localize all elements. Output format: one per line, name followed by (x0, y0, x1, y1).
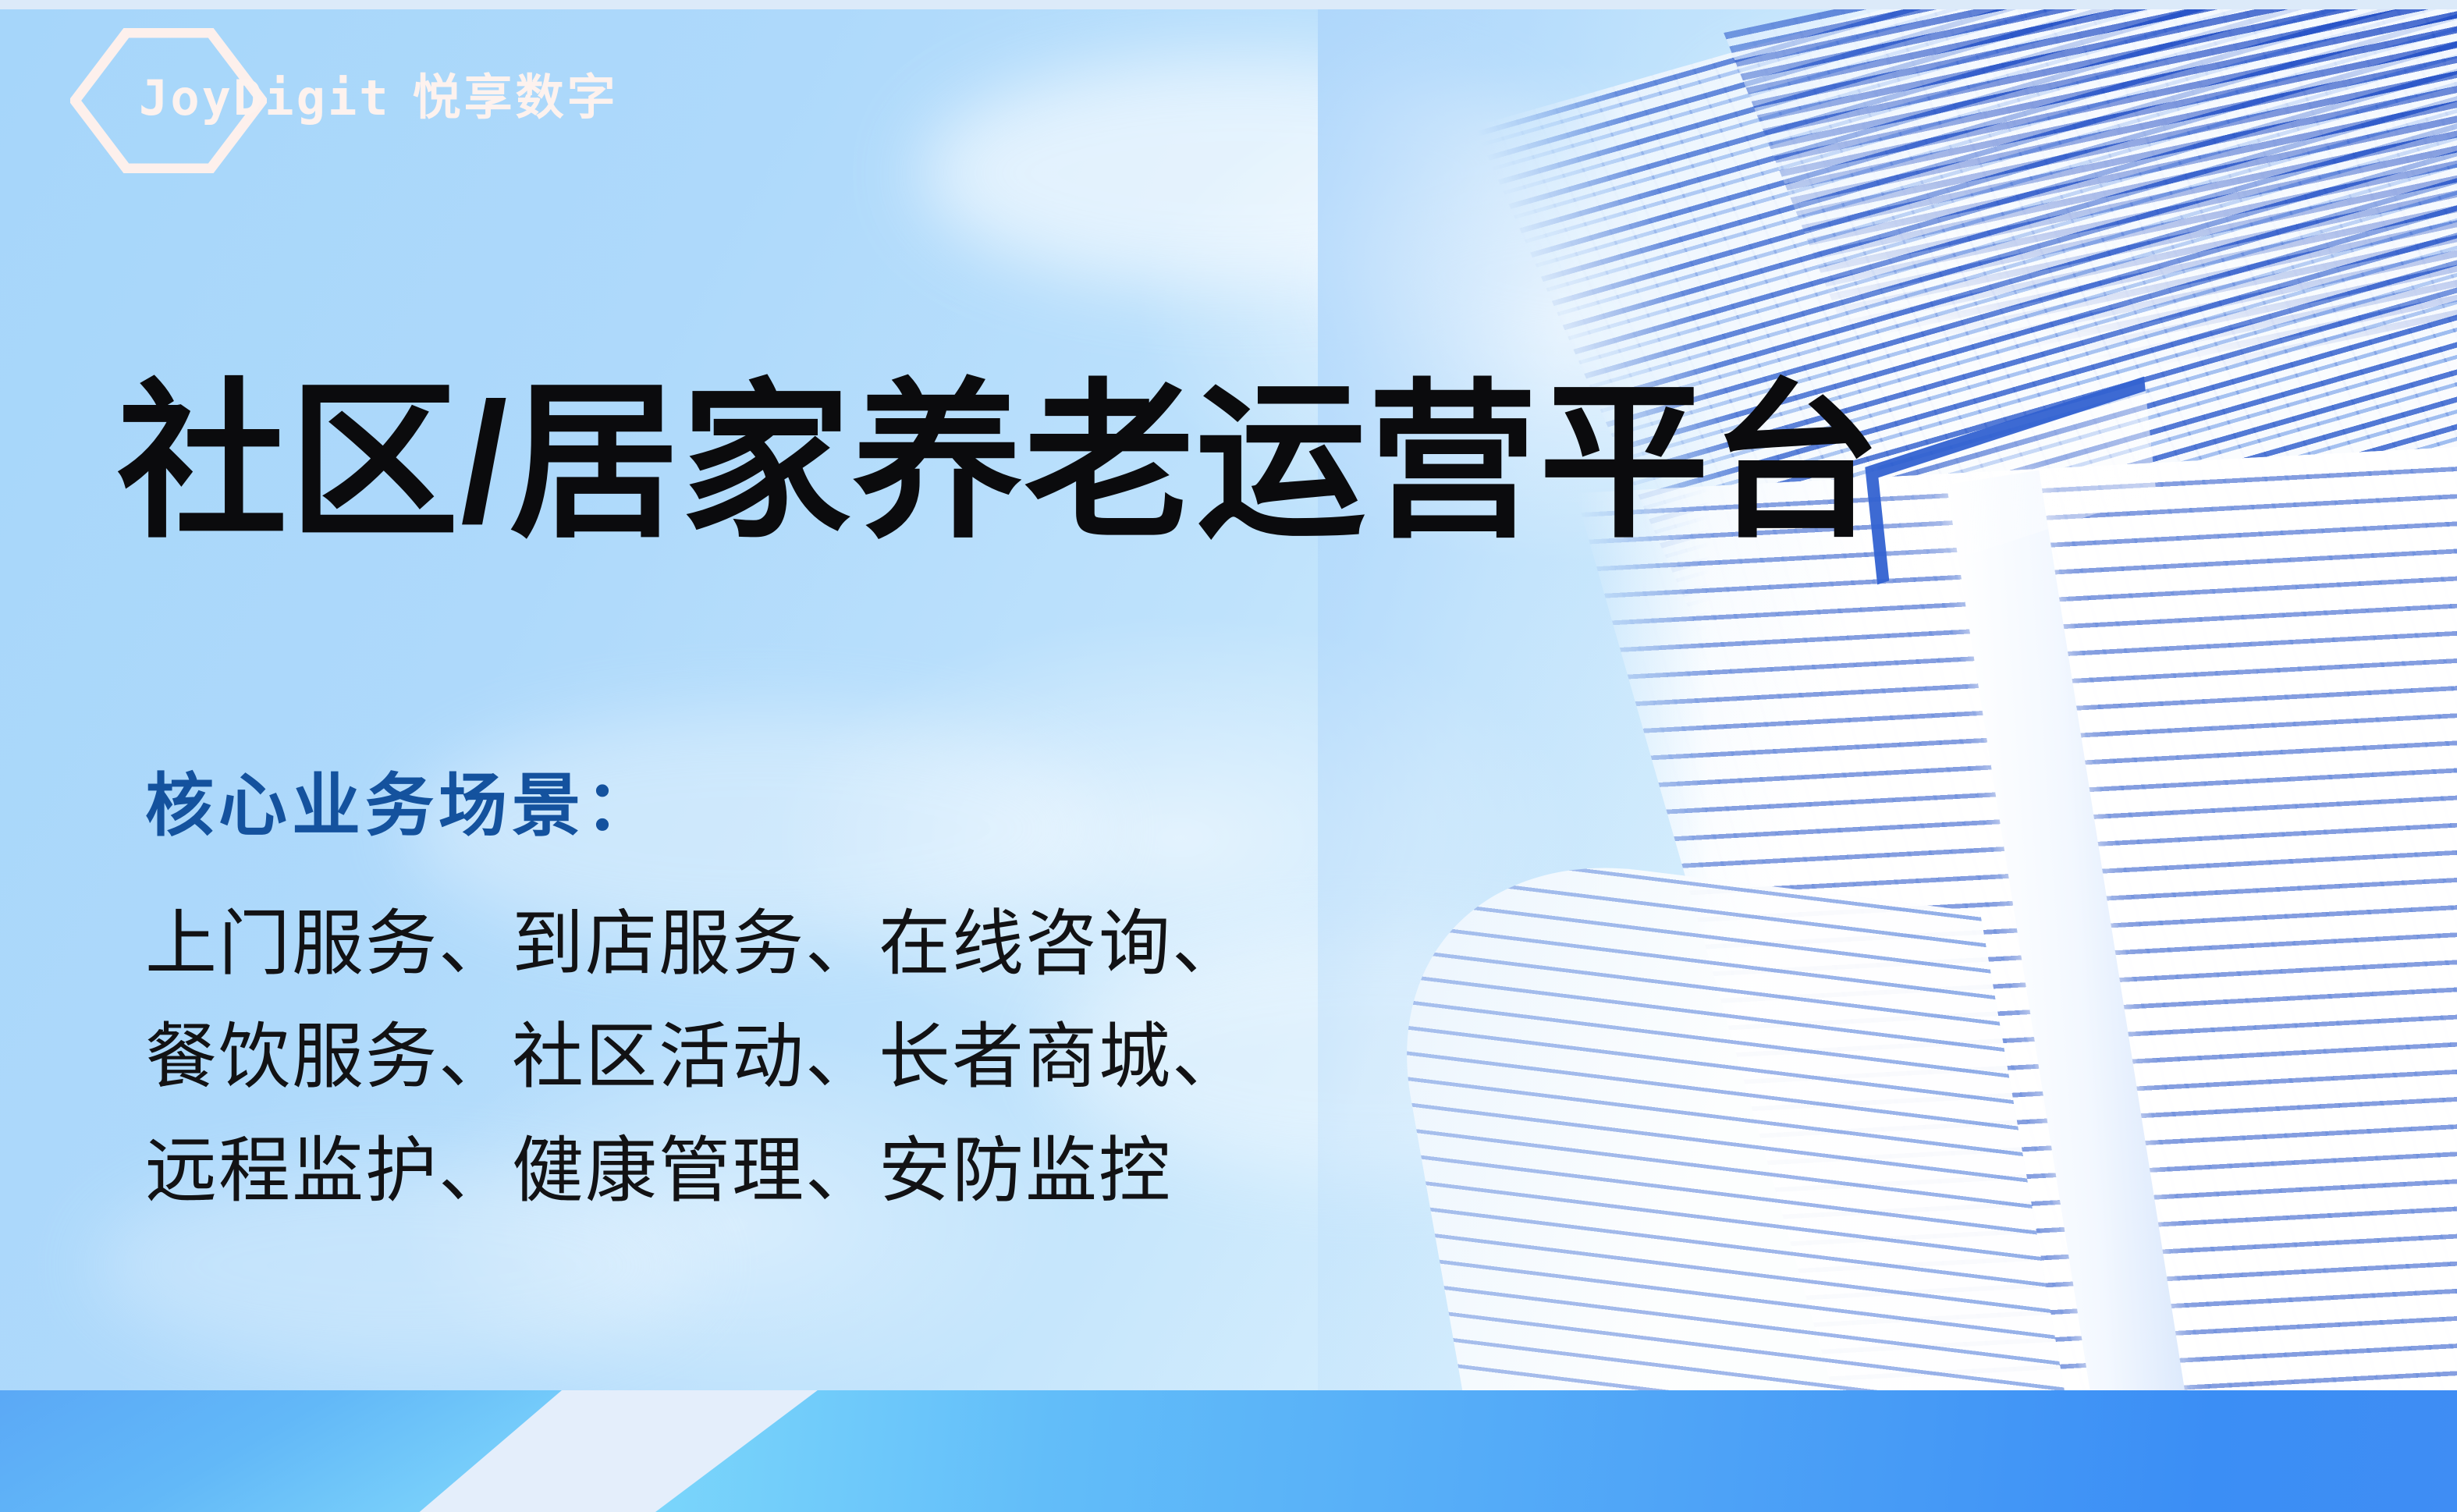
core-scenarios-block: 核心业务场景： 上门服务、到店服务、在线咨询、 餐饮服务、社区活动、长者商城、 … (145, 768, 1245, 1228)
top-accent-strip (0, 0, 2457, 9)
logo-chinese-name: 悦享数字 (413, 74, 619, 122)
scenario-line: 餐饮服务、社区活动、长者商城、 (145, 1001, 1245, 1114)
footer-band-right-shape (655, 1390, 2457, 1512)
scenario-line: 远程监护、健康管理、安防监控 (145, 1115, 1245, 1228)
footer-band-left-shape (0, 1390, 562, 1512)
slide-root: JoyDigit 悦享数字 社区/居家养老运营平台 核心业务场景： 上门服务、到… (0, 0, 2457, 1512)
skyscraper-photo (1318, 9, 2457, 1390)
page-title: 社区/居家养老运营平台 (117, 371, 1883, 555)
footer-diagonal-band (0, 1390, 2457, 1512)
logo-wordmark: JoyDigit (139, 74, 391, 122)
brand-logo[interactable]: JoyDigit 悦享数字 (139, 61, 619, 136)
scenario-line: 上门服务、到店服务、在线咨询、 (145, 888, 1245, 1001)
building-curved-face (1365, 836, 2083, 1390)
core-scenarios-heading: 核心业务场景： (145, 768, 1245, 844)
